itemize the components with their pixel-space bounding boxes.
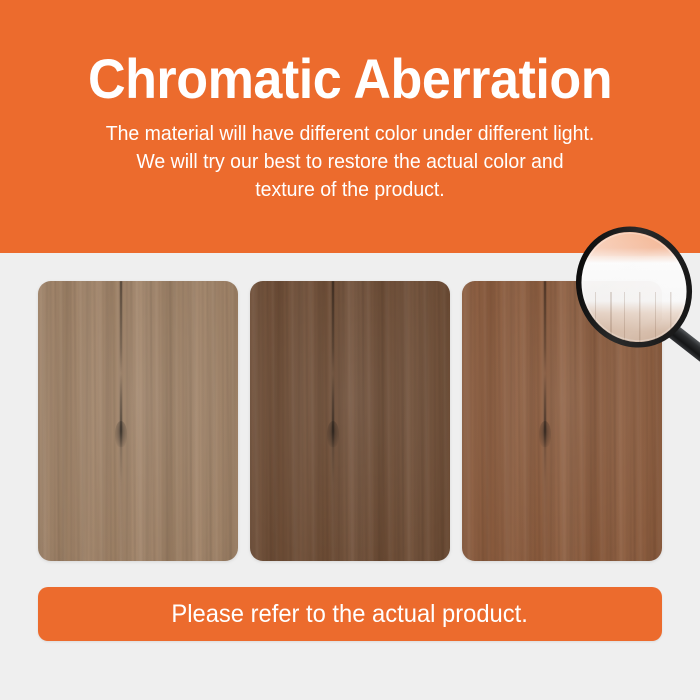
light-oak-swatch bbox=[38, 281, 238, 561]
promo-graphic: Chromatic Aberration The material will h… bbox=[0, 0, 700, 700]
header-subtitle-line-1: The material will have different color u… bbox=[44, 120, 656, 148]
header-subtitle-line-3: texture of the product. bbox=[44, 176, 656, 204]
wood-vignette bbox=[462, 281, 662, 561]
cta-label: Please refer to the actual product. bbox=[172, 600, 528, 628]
dark-walnut-swatch bbox=[250, 281, 450, 561]
warm-cherry-swatch bbox=[462, 281, 662, 561]
header-subtitle: The material will have different color u… bbox=[44, 120, 656, 204]
swatch-row bbox=[38, 281, 662, 561]
header-subtitle-line-2: We will try our best to restore the actu… bbox=[44, 148, 656, 176]
wood-vignette bbox=[250, 281, 450, 561]
page-title: Chromatic Aberration bbox=[25, 48, 676, 110]
header-band: Chromatic Aberration The material will h… bbox=[0, 0, 700, 253]
magnifier-handle bbox=[656, 317, 700, 368]
refer-to-actual-product-banner[interactable]: Please refer to the actual product. bbox=[38, 587, 662, 641]
wood-vignette bbox=[38, 281, 238, 561]
